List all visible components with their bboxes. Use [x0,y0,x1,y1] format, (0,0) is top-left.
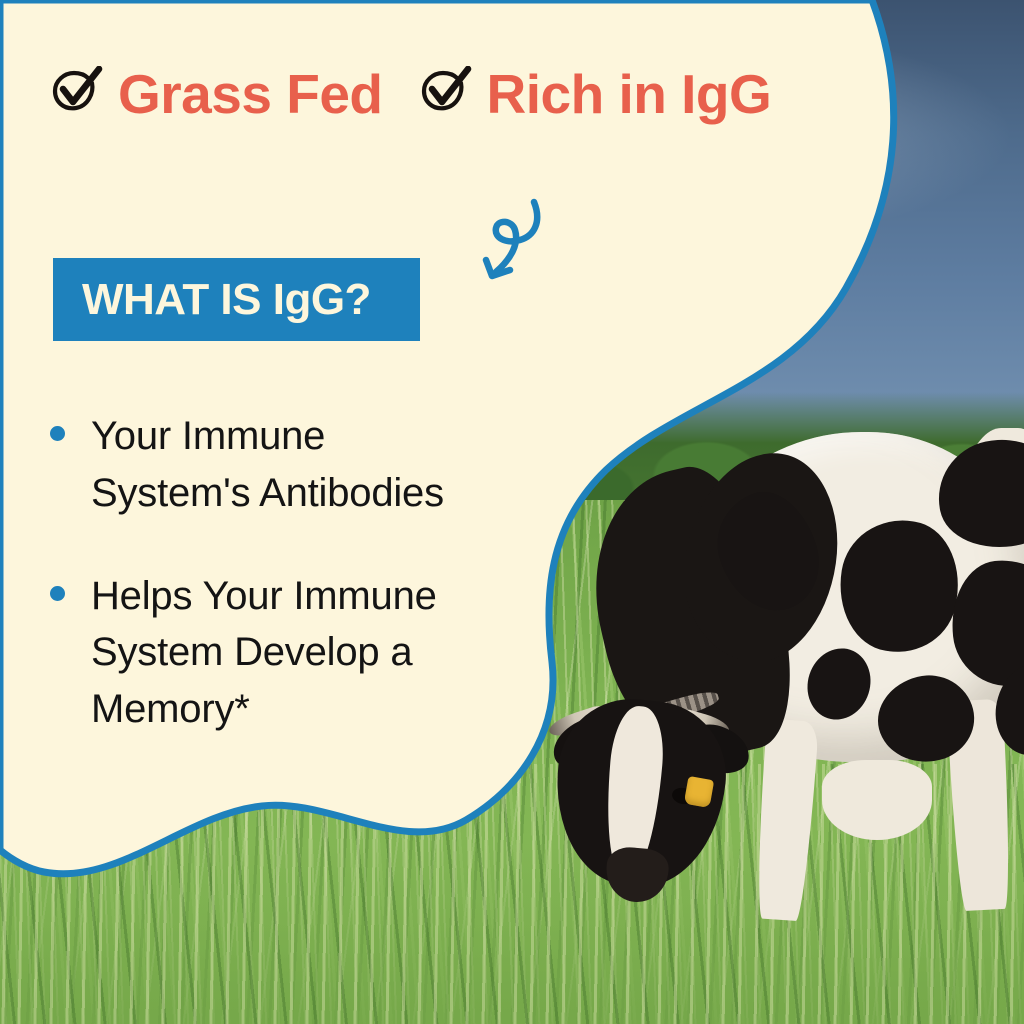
infographic-poster: Grass Fed Rich in IgG WHAT IS IgG? Your … [0,0,1024,1024]
list-item-text: Helps Your Immune System Develop a Memor… [91,568,480,738]
list-item-text: Your Immune System's Antibodies [91,408,480,522]
bullet-dot-icon [50,426,65,441]
claim-label: Rich in IgG [487,67,772,122]
claims-row: Grass Fed Rich in IgG [48,66,771,122]
claim-rich-in-igg: Rich in IgG [417,66,772,122]
check-circle-icon [48,66,104,122]
panel-content: Grass Fed Rich in IgG WHAT IS IgG? Your … [0,0,1024,1024]
bullet-dot-icon [50,586,65,601]
what-is-igg-banner: WHAT IS IgG? [53,258,420,341]
claim-label: Grass Fed [118,67,383,122]
curly-arrow-icon [462,196,566,294]
banner-title: WHAT IS IgG? [53,278,371,322]
claim-grass-fed: Grass Fed [48,66,383,122]
list-item: Your Immune System's Antibodies [50,408,480,522]
benefit-list: Your Immune System's Antibodies Helps Yo… [50,408,480,784]
check-circle-icon [417,66,473,122]
list-item: Helps Your Immune System Develop a Memor… [50,568,480,738]
